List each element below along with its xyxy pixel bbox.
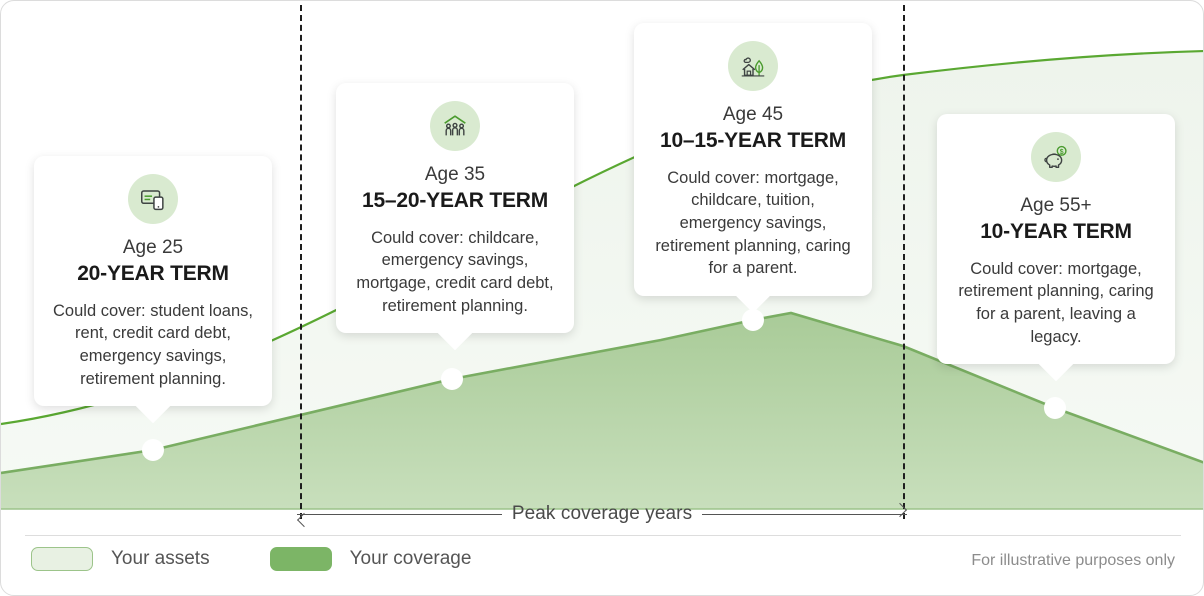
peak-coverage-annotation: Peak coverage years xyxy=(297,499,907,529)
card-body-text: Could cover: student loans, rent, credit… xyxy=(50,300,256,390)
callout-card-age-35[interactable]: Age 35 15–20-YEAR TERM Could cover: chil… xyxy=(336,83,574,333)
card-body-text: Could cover: mortgage, retirement planni… xyxy=(953,258,1159,348)
card-age-label: Age 25 xyxy=(50,238,256,259)
callout-card-age-55-plus[interactable]: $ Age 55+ 10-YEAR TERM Could cover: mort… xyxy=(937,114,1175,364)
footer-divider xyxy=(25,535,1181,536)
svg-text:$: $ xyxy=(1060,149,1064,156)
chart-legend: Your assets Your coverage xyxy=(31,547,471,571)
disclaimer-text: For illustrative purposes only xyxy=(971,552,1175,570)
marker-dot-age-25 xyxy=(142,439,164,461)
marker-dot-age-45 xyxy=(742,309,764,331)
legend-item-assets: Your assets xyxy=(31,547,210,571)
family-under-roof-icon xyxy=(430,101,480,151)
legend-swatch-coverage xyxy=(270,547,332,571)
card-body-text: Could cover: childcare, emergency saving… xyxy=(352,227,558,317)
card-term-label: 10–15-YEAR TERM xyxy=(650,129,856,153)
marker-dot-age-35 xyxy=(441,368,463,390)
legend-label-assets: Your assets xyxy=(111,548,210,570)
card-term-label: 20-YEAR TERM xyxy=(50,262,256,286)
card-age-label: Age 55+ xyxy=(953,196,1159,217)
credit-card-phone-icon xyxy=(128,174,178,224)
card-term-label: 10-YEAR TERM xyxy=(953,220,1159,244)
card-age-label: Age 35 xyxy=(352,165,558,186)
legend-label-coverage: Your coverage xyxy=(350,548,472,570)
arrow-right-icon xyxy=(702,514,907,515)
callout-card-age-25[interactable]: Age 25 20-YEAR TERM Could cover: student… xyxy=(34,156,272,406)
callout-card-age-45[interactable]: Age 45 10–15-YEAR TERM Could cover: mort… xyxy=(634,23,872,296)
infographic-frame: Age 25 20-YEAR TERM Could cover: student… xyxy=(0,0,1204,596)
card-body-text: Could cover: mortgage, childcare, tuitio… xyxy=(650,167,856,280)
card-age-label: Age 45 xyxy=(650,105,856,126)
house-tree-cloud-icon xyxy=(728,41,778,91)
legend-item-coverage: Your coverage xyxy=(270,547,472,571)
card-term-label: 15–20-YEAR TERM xyxy=(352,189,558,213)
guide-line-peak-end xyxy=(903,5,905,519)
legend-swatch-assets xyxy=(31,547,93,571)
piggy-bank-icon: $ xyxy=(1031,132,1081,182)
guide-line-peak-start xyxy=(300,5,302,519)
marker-dot-age-55-plus xyxy=(1044,397,1066,419)
arrow-left-icon xyxy=(297,514,502,515)
peak-coverage-label: Peak coverage years xyxy=(512,503,692,525)
